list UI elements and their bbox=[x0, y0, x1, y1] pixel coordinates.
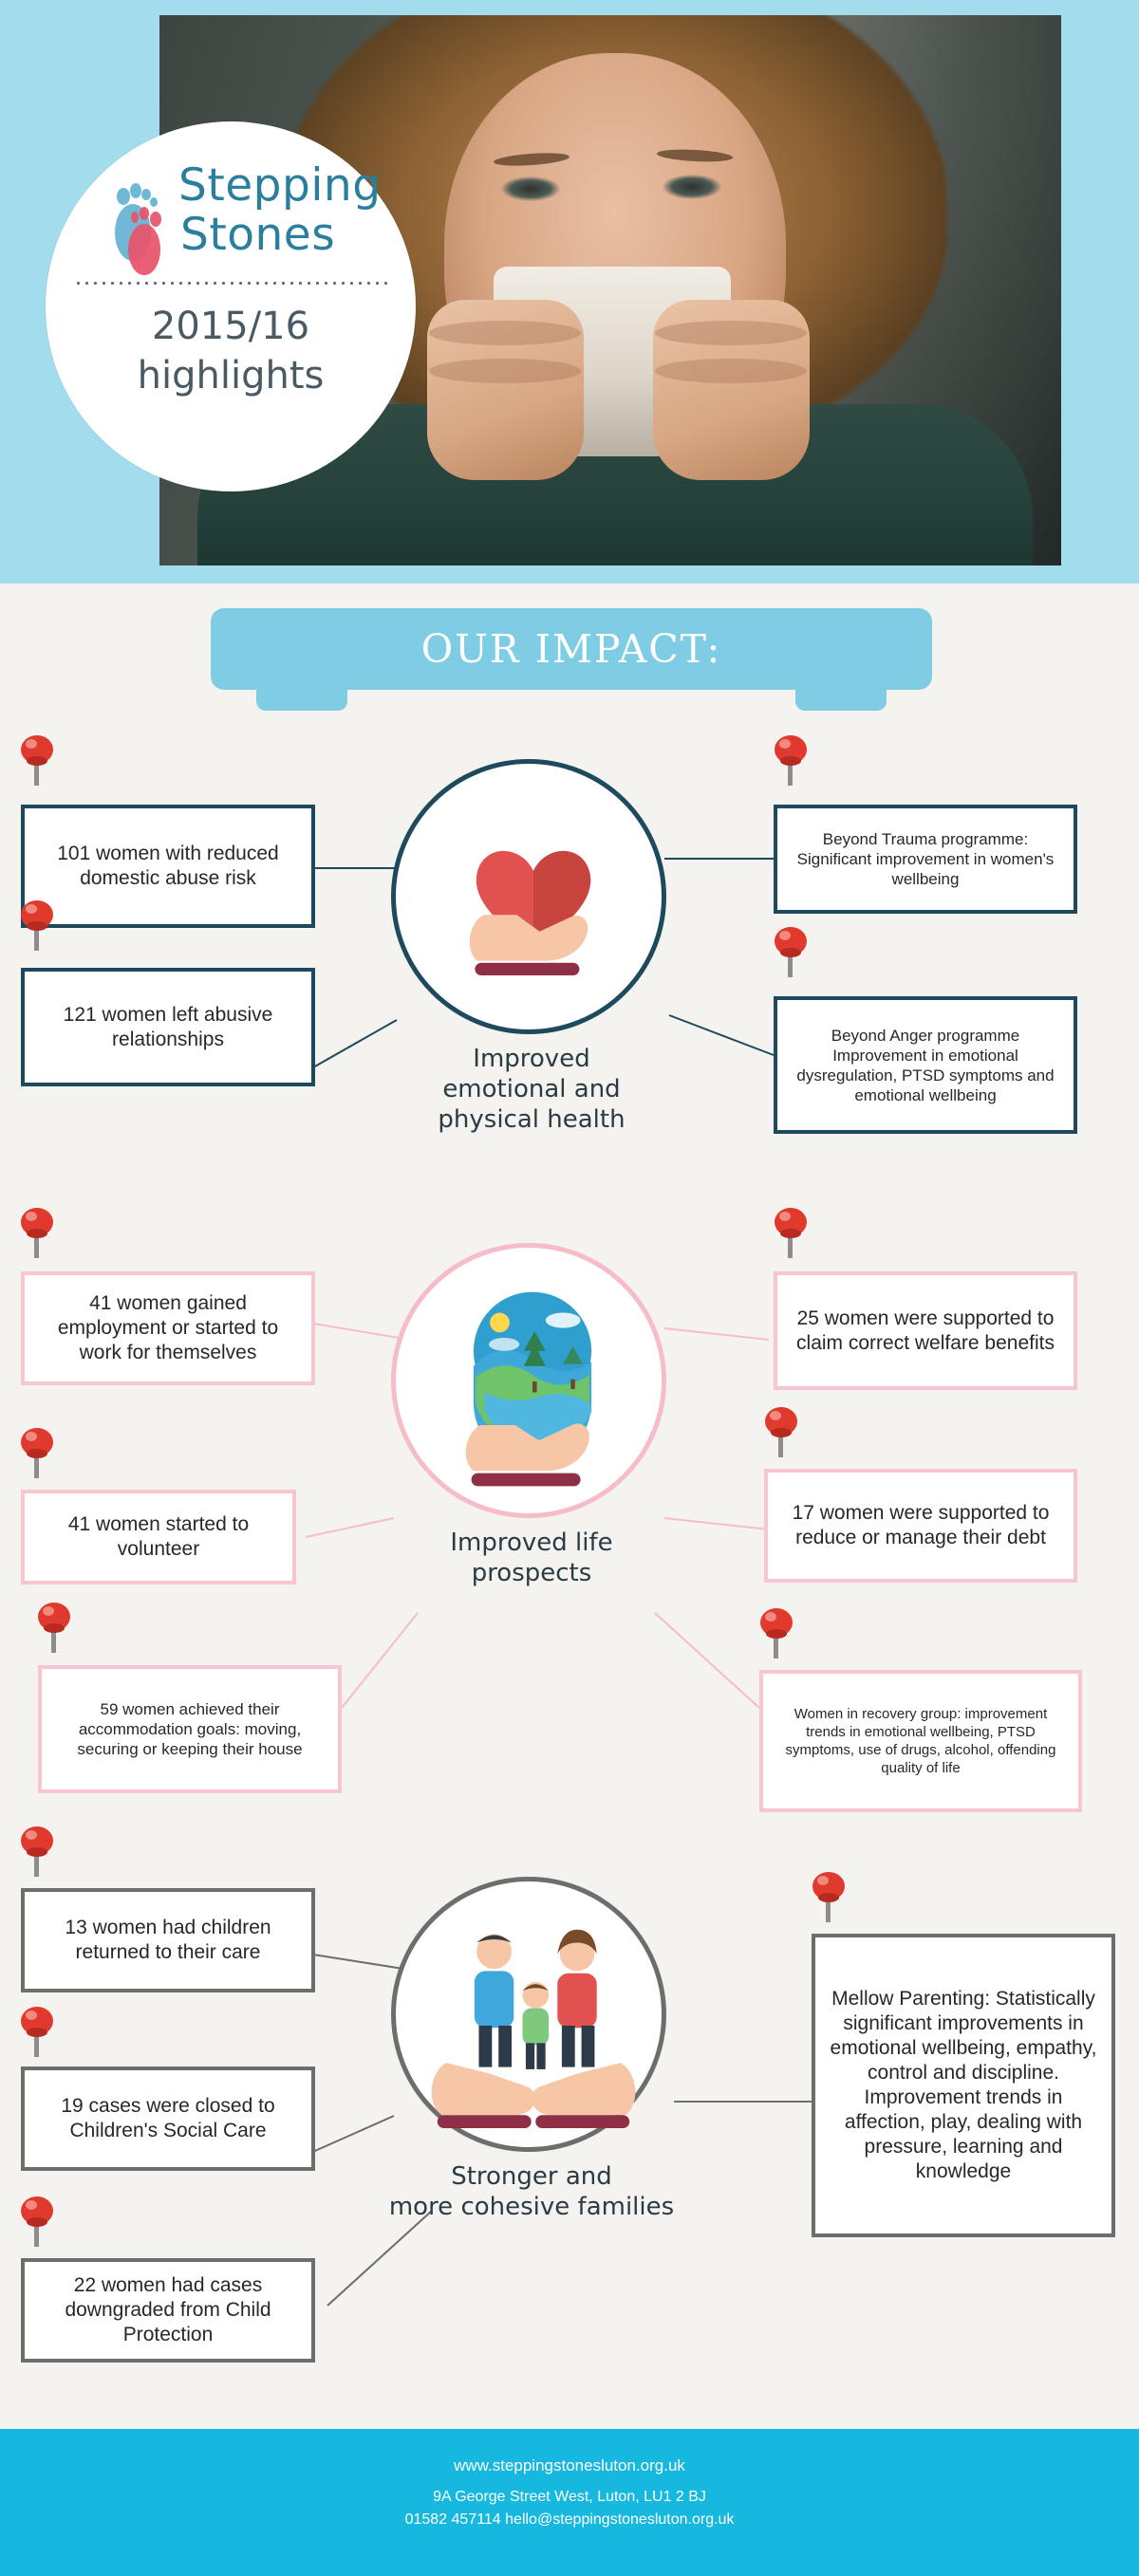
card-health-right-2: Beyond Anger programme Improvement in em… bbox=[774, 996, 1077, 1134]
card-health-left-2-text: 121 women left abusive relationships bbox=[36, 1003, 300, 1052]
pushpin-icon bbox=[13, 1423, 61, 1480]
health-caption: Improved emotional and physical health bbox=[380, 1044, 683, 1135]
card-fam-left-3-text: 22 women had cases downgraded from Child… bbox=[36, 2273, 300, 2347]
pushpin-icon bbox=[13, 2002, 61, 2059]
landscape-in-hand-icon bbox=[415, 1272, 650, 1491]
health-caption-line1: Improved bbox=[380, 1044, 683, 1074]
card-life-left-2: 41 women started to volunteer bbox=[21, 1490, 296, 1585]
family-in-hands-icon bbox=[409, 1910, 658, 2128]
card-life-right-2-text: 17 women were supported to reduce or man… bbox=[779, 1501, 1062, 1550]
pushpin-icon bbox=[767, 731, 814, 788]
card-life-left-3: 59 women achieved their accommodation go… bbox=[38, 1665, 342, 1793]
health-icon-circle bbox=[391, 759, 666, 1034]
life-caption: Improved life prospects bbox=[380, 1528, 683, 1588]
card-fam-left-2-text: 19 cases were closed to Children's Socia… bbox=[36, 2094, 300, 2143]
footer-address: 9A George Street West, Luton, LU1 2 BJ bbox=[0, 2486, 1139, 2509]
pushpin-icon bbox=[767, 922, 814, 979]
card-fam-left-1-text: 13 women had children returned to their … bbox=[36, 1916, 300, 1965]
card-fam-right-1: Mellow Parenting: Statistically signific… bbox=[812, 1934, 1115, 2237]
card-health-right-2-text: Beyond Anger programme Improvement in em… bbox=[789, 1026, 1062, 1105]
card-life-right-1-text: 25 women were supported to claim correct… bbox=[789, 1307, 1062, 1356]
families-icon-circle bbox=[391, 1877, 666, 2152]
pushpin-icon bbox=[13, 896, 61, 953]
card-life-right-1: 25 women were supported to claim correct… bbox=[774, 1271, 1077, 1390]
card-health-left-1-text: 101 women with reduced domestic abuse ri… bbox=[36, 842, 300, 891]
families-caption: Stronger and more cohesive families bbox=[313, 2161, 750, 2222]
card-life-left-1-text: 41 women gained employment or started to… bbox=[36, 1291, 300, 1365]
footer: www.steppingstonesluton.org.uk 9A George… bbox=[0, 2429, 1139, 2576]
pushpin-icon bbox=[13, 2192, 61, 2249]
footer-website[interactable]: www.steppingstonesluton.org.uk bbox=[0, 2454, 1139, 2478]
card-fam-right-1-text: Mellow Parenting: Statistically signific… bbox=[827, 1987, 1100, 2184]
card-life-right-3-text: Women in recovery group: improvement tre… bbox=[775, 1705, 1067, 1777]
card-life-left-1: 41 women gained employment or started to… bbox=[21, 1271, 315, 1385]
card-health-right-1: Beyond Trauma programme: Significant imp… bbox=[774, 805, 1077, 914]
card-life-left-2-text: 41 women started to volunteer bbox=[36, 1512, 281, 1562]
card-health-left-1: 101 women with reduced domestic abuse ri… bbox=[21, 805, 315, 928]
footer-contact[interactable]: 01582 457114 hello@steppingstonesluton.o… bbox=[0, 2509, 1139, 2531]
card-life-left-3-text: 59 women achieved their accommodation go… bbox=[53, 1699, 327, 1759]
card-life-right-3: Women in recovery group: improvement tre… bbox=[759, 1670, 1082, 1812]
card-fam-left-2: 19 cases were closed to Children's Socia… bbox=[21, 2066, 315, 2171]
life-caption-line1: Improved life bbox=[380, 1528, 683, 1558]
card-fam-left-3: 22 women had cases downgraded from Child… bbox=[21, 2258, 315, 2363]
pushpin-icon bbox=[13, 1822, 61, 1879]
health-caption-line2: emotional and bbox=[380, 1074, 683, 1104]
pushpin-icon bbox=[753, 1603, 800, 1660]
card-life-right-2: 17 women were supported to reduce or man… bbox=[764, 1469, 1077, 1583]
health-caption-line3: physical health bbox=[380, 1104, 683, 1135]
card-health-left-2: 121 women left abusive relationships bbox=[21, 968, 315, 1086]
life-icon-circle bbox=[391, 1243, 666, 1518]
pushpin-icon bbox=[13, 1203, 61, 1260]
card-health-right-1-text: Beyond Trauma programme: Significant imp… bbox=[789, 829, 1062, 889]
heart-in-hand-icon bbox=[417, 798, 650, 1007]
pushpin-icon bbox=[13, 731, 61, 788]
card-fam-left-1: 13 women had children returned to their … bbox=[21, 1888, 315, 1992]
families-caption-line2: more cohesive families bbox=[313, 2192, 750, 2222]
pushpin-icon bbox=[30, 1598, 78, 1655]
life-caption-line2: prospects bbox=[380, 1558, 683, 1588]
pushpin-icon bbox=[757, 1402, 805, 1459]
pushpin-icon bbox=[767, 1203, 814, 1260]
pushpin-icon bbox=[805, 1867, 852, 1924]
families-caption-line1: Stronger and bbox=[313, 2161, 750, 2192]
